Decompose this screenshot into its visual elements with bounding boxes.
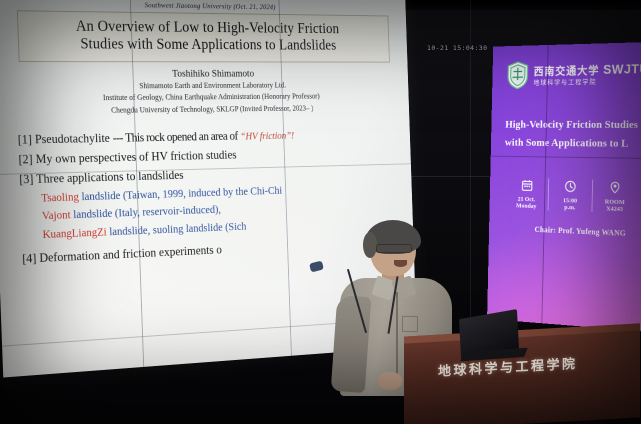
lecture-hall-scene: Southwest Jiaotong University (Oct. 21, …: [0, 0, 641, 424]
lectern-podium: 地球科学与工程学院: [404, 323, 640, 424]
speaker-mouth: [394, 260, 407, 267]
landslide-example-1-detail: landslide (Taiwan, 1999, induced by the …: [79, 185, 283, 203]
event-announcement-display: 西南交通大学 SWJTU 地球科学与工程学院 High-Velocity Fri…: [487, 42, 641, 332]
speaker-shirt-pocket: [402, 316, 418, 332]
school-name-cn: 地球科学与工程学院: [533, 78, 641, 86]
outline-item-1-emphasis: “HV friction”!: [240, 131, 294, 142]
event-time-cell: 15:00 p.m.: [548, 178, 593, 211]
camera-timestamp-overlay: 10-21 15:04:30: [427, 44, 487, 52]
university-name-en: SWJTU: [603, 62, 641, 76]
event-date-cell: 21 Oct. Monday: [505, 177, 548, 210]
event-title-line-1: High-Velocity Friction Studies: [505, 116, 641, 135]
swjtu-crest-icon: [506, 61, 529, 90]
slide-author: Toshihiko Shimamoto: [13, 69, 395, 80]
landslide-example-3-name: KuangLiangZi: [42, 227, 106, 241]
speaker-hand: [378, 372, 402, 390]
outline-item-1-number: [1]: [18, 132, 33, 146]
calendar-icon: [506, 177, 549, 192]
university-name-cn: 西南交通大学: [534, 65, 600, 77]
event-title-line-2: with Some Applications to L: [505, 134, 641, 154]
landslide-example-1-name: Tsaoling: [41, 191, 79, 204]
speaker-shirt-placket: [396, 292, 398, 374]
outline-item-4-text: Deformation and friction experiments o: [39, 242, 222, 264]
slide-affiliation-3: Chengdu University of Technology, SKLGP …: [15, 103, 397, 117]
speaker-sideburn: [363, 232, 377, 258]
outline-item-2-number: [2]: [18, 152, 33, 166]
event-date-line-2: Monday: [505, 202, 548, 210]
landslide-example-2-name: Vajont: [42, 210, 71, 223]
landslide-example-2-detail: landslide (Italy, reservoir-induced),: [70, 204, 221, 221]
location-pin-icon: [593, 179, 638, 195]
speaker-left-arm: [331, 295, 372, 393]
university-branding: 西南交通大学 SWJTU 地球科学与工程学院: [492, 42, 641, 90]
speaker-glasses: [376, 244, 412, 253]
slide-title-box: An Overview of Low to High-Velocity Fric…: [17, 10, 390, 62]
event-room-cell: ROOM X4243: [591, 179, 637, 213]
slide-affiliation-1: Shimamoto Earth and Environment Laborato…: [14, 80, 396, 92]
landslide-example-3-detail: landslide, suoling landslide (Sich: [106, 221, 246, 238]
outline-item-4-number: [4]: [22, 251, 37, 266]
event-info-row: 21 Oct. Monday 15:00 p.m.: [490, 152, 641, 213]
event-time-line-2: p.m.: [548, 203, 591, 211]
outline-item-1-text: Pseudotachylite: [35, 131, 110, 146]
event-title: High-Velocity Friction Studies with Some…: [491, 88, 641, 155]
outline-item-3-number: [3]: [19, 172, 34, 186]
clock-icon: [549, 178, 592, 194]
slide-title-line-2: Studies with Some Applications to Landsl…: [26, 35, 382, 54]
outline-item-1-dots: --- This rock opened an area of: [112, 129, 237, 145]
